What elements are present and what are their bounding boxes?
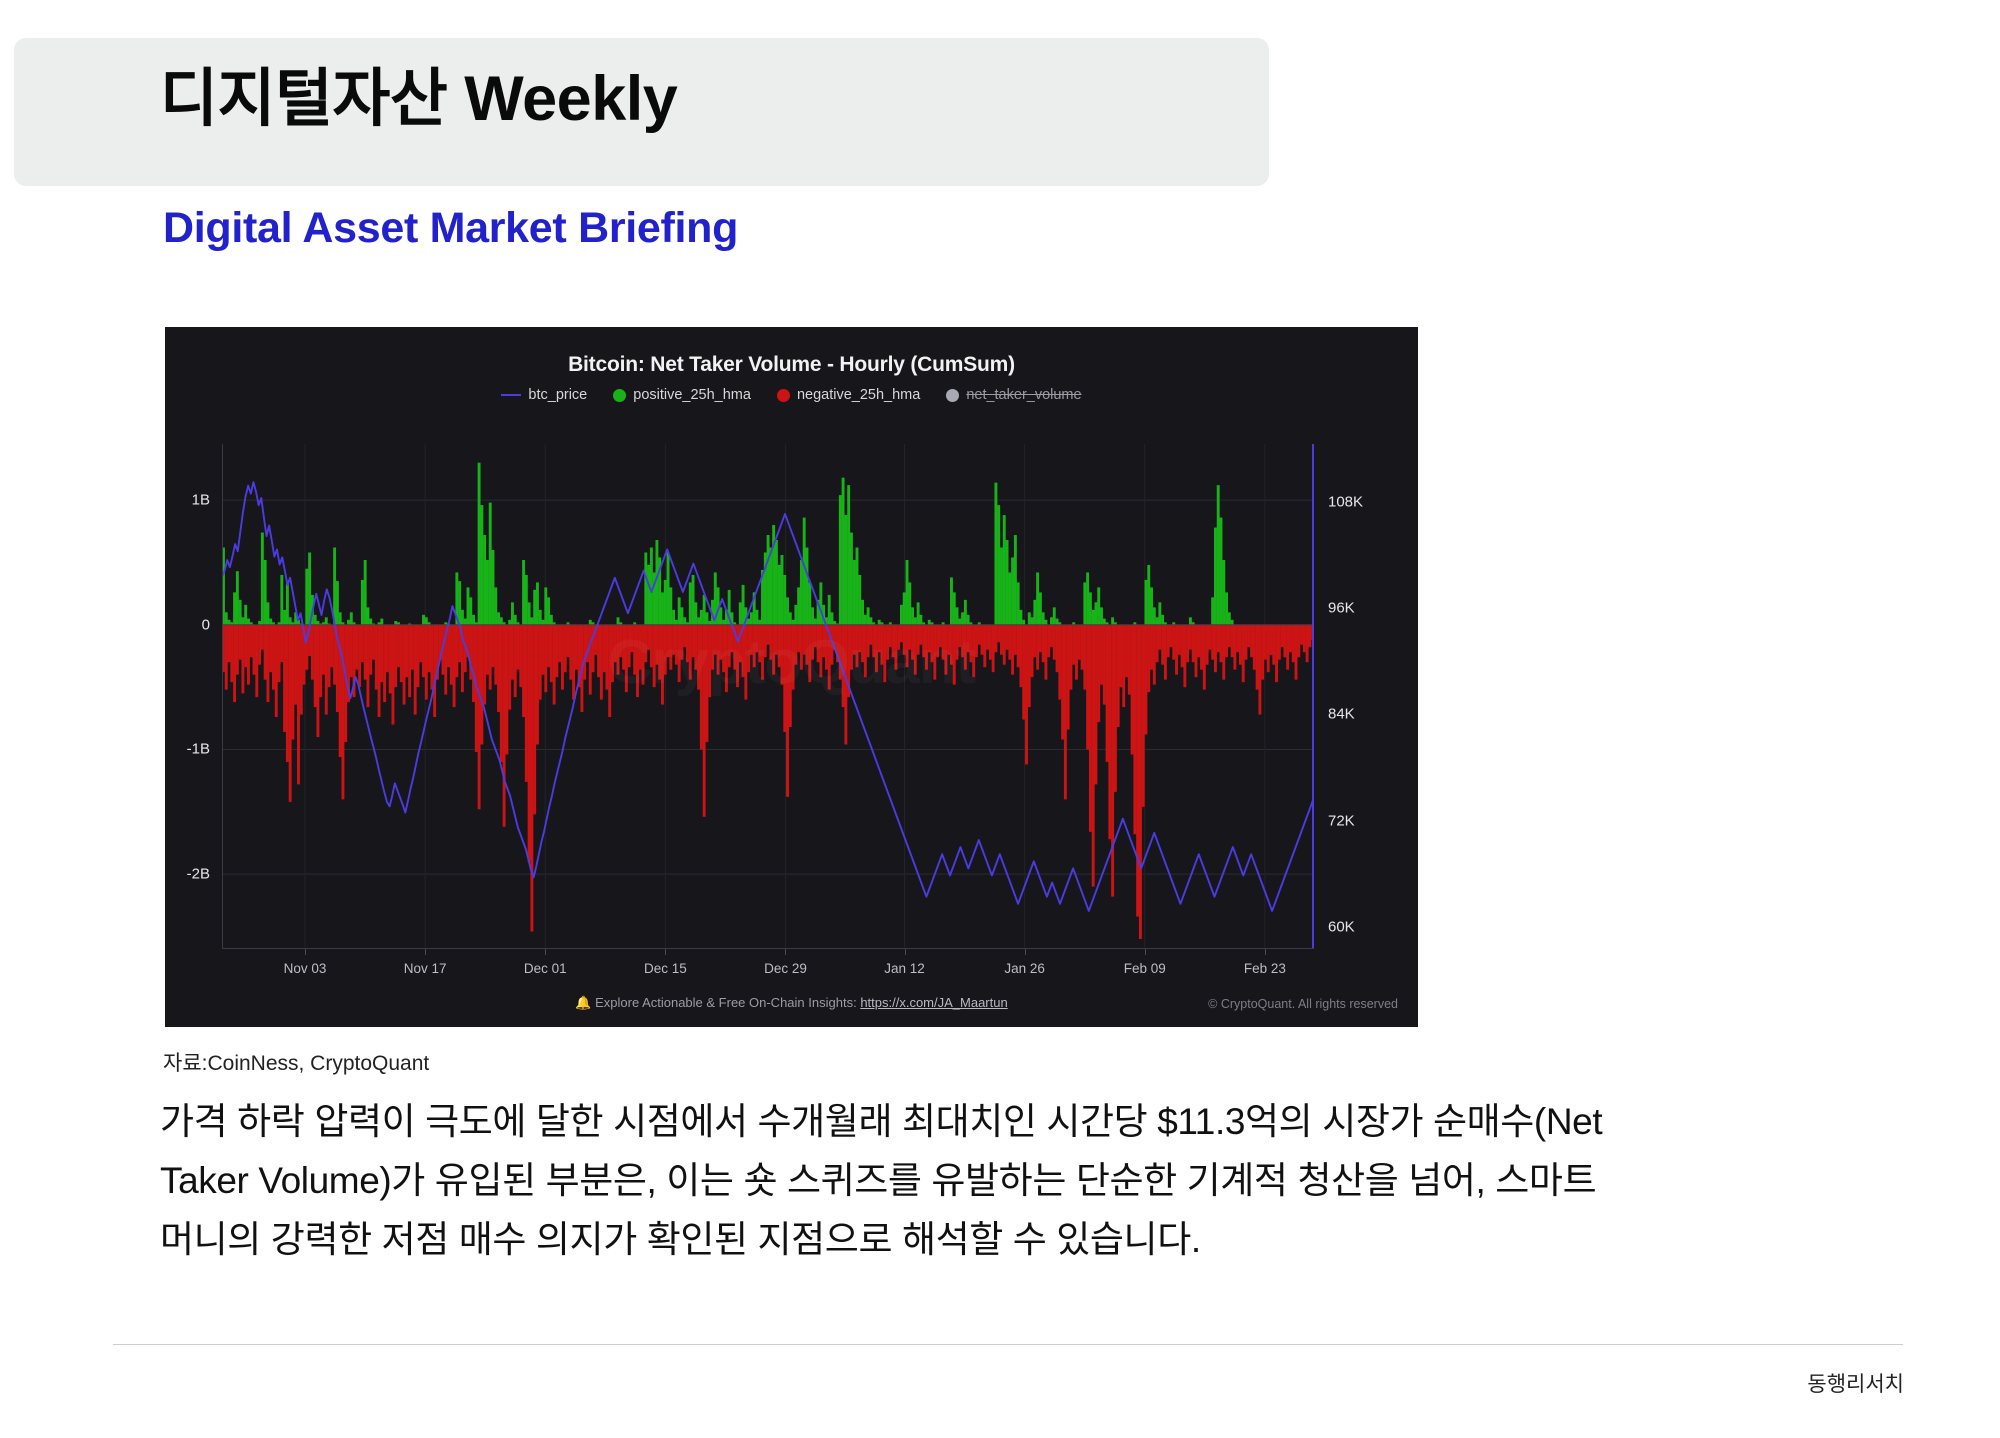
x-axis-tick-label: Jan 26 [1004,961,1045,976]
body-line-3: 머니의 강력한 저점 매수 의지가 확인된 지점으로 해석할 수 있습니다. [160,1210,1900,1269]
y-axis-left-tick: 1B [165,492,210,509]
y-axis-right-tick: 72K [1328,812,1355,829]
promo-link[interactable]: https://x.com/JA_Maartun [860,995,1007,1010]
dot-swatch-icon [946,389,959,402]
x-axis-tick-label: Dec 29 [764,961,807,976]
x-axis-tick-mark [1145,949,1146,955]
y-axis-right-tick: 108K [1328,493,1363,510]
legend-item-btc-price[interactable]: btc_price [501,387,587,403]
x-axis-tick-label: Feb 09 [1124,961,1166,976]
legend-item-negative-25h-hma[interactable]: negative_25h_hma [777,387,920,403]
dot-swatch-icon [777,389,790,402]
x-axis-tick-label: Nov 17 [404,961,447,976]
legend-label: positive_25h_hma [633,387,751,403]
y-axis-right-tick: 96K [1328,599,1355,616]
chart-legend: btc_price positive_25h_hma negative_25h_… [165,387,1418,403]
x-axis-tick-mark [665,949,666,955]
legend-label: negative_25h_hma [797,387,920,403]
y-axis-right-tick: 60K [1328,918,1355,935]
line-swatch-icon [501,394,521,396]
legend-item-positive-25h-hma[interactable]: positive_25h_hma [613,387,751,403]
body-copy: 가격 하락 압력이 극도에 달한 시점에서 수개월래 최대치인 시간당 $11.… [160,1092,1900,1270]
page-subtitle: Digital Asset Market Briefing [163,203,738,255]
chart-panel: Bitcoin: Net Taker Volume - Hourly (CumS… [165,327,1418,1027]
y-axis-right-line [1312,444,1314,949]
bell-icon: 🔔 [575,995,591,1010]
legend-label: btc_price [528,387,587,403]
x-axis-tick-mark [545,949,546,955]
legend-item-net-taker-volume[interactable]: net_taker_volume [946,387,1081,403]
x-axis-tick-mark [905,949,906,955]
body-line-1: 가격 하락 압력이 극도에 달한 시점에서 수개월래 최대치인 시간당 $11.… [160,1092,1900,1151]
y-axis-right-tick: 84K [1328,706,1355,723]
chart-copyright: © CryptoQuant. All rights reserved [1208,997,1398,1011]
x-axis-line [222,948,1314,949]
dot-swatch-icon [613,389,626,402]
x-axis-tick-mark [1265,949,1266,955]
legend-label: net_taker_volume [966,387,1081,403]
x-axis-tick-mark [1025,949,1026,955]
source-line: 자료:CoinNess, CryptoQuant [163,1047,429,1077]
chart-title: Bitcoin: Net Taker Volume - Hourly (CumS… [165,353,1418,377]
x-axis-tick-label: Dec 15 [644,961,687,976]
footer-divider [113,1344,1903,1345]
promo-text: Explore Actionable & Free On-Chain Insig… [595,995,857,1010]
chart-canvas [222,444,1314,949]
x-axis-tick-mark [785,949,786,955]
x-axis-tick-mark [425,949,426,955]
x-axis-tick-label: Jan 12 [884,961,925,976]
footer-brand: 동행리서치 [1807,1368,1904,1398]
body-line-2: Taker Volume)가 유입된 부분은, 이는 숏 스퀴즈를 유발하는 단… [160,1151,1900,1210]
y-axis-left-tick: -2B [165,866,210,883]
page-title: 디지털자산 Weekly [160,68,677,131]
x-axis-tick-label: Feb 23 [1244,961,1286,976]
x-axis-tick-label: Nov 03 [284,961,327,976]
plot-area [222,444,1314,949]
y-axis-left-tick: -1B [165,741,210,758]
y-axis-left-line [222,444,223,949]
y-axis-left-tick: 0 [165,616,210,633]
x-axis-tick-mark [305,949,306,955]
x-axis-tick-label: Dec 01 [524,961,567,976]
